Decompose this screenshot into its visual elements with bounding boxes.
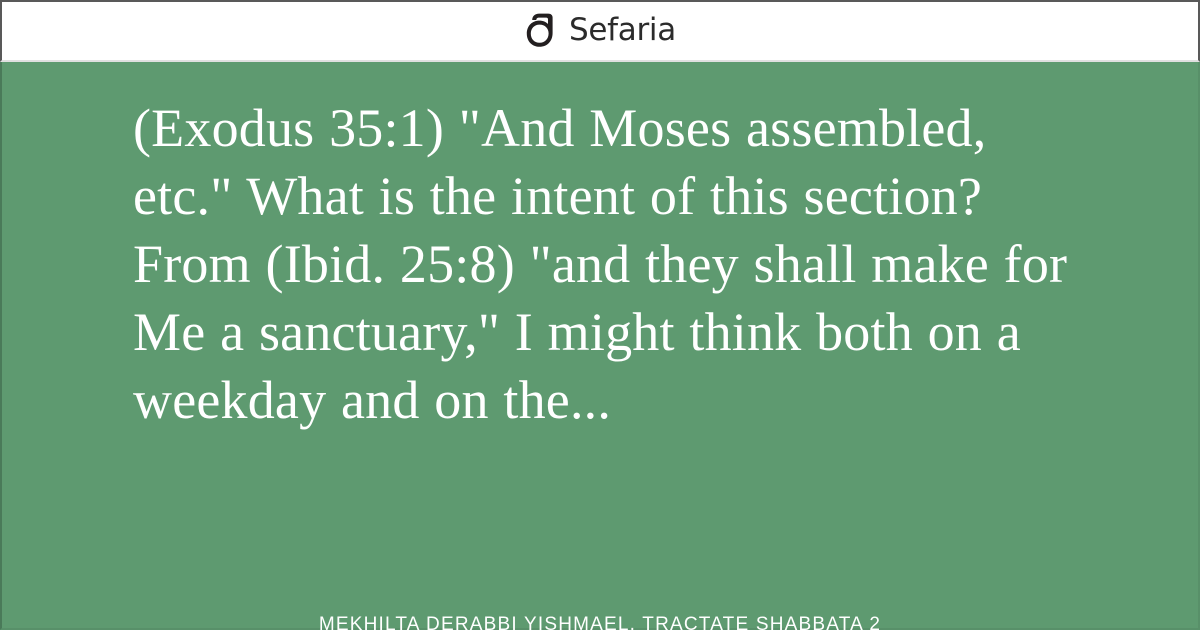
site-header: Sefaria <box>0 0 1200 62</box>
brand-name: Sefaria <box>569 15 676 46</box>
card-body: (Exodus 35:1) "And Moses assembled, etc.… <box>0 62 1200 630</box>
source-reference-caption: Mekhilta DeRabbi Yishmael, Tractate Shab… <box>2 614 1198 630</box>
sefaria-samekh-logo-icon <box>524 11 558 49</box>
sefaria-share-card: Sefaria (Exodus 35:1) "And Moses assembl… <box>0 0 1200 630</box>
sefaria-logo[interactable]: Sefaria <box>524 11 676 49</box>
quote-text: (Exodus 35:1) "And Moses assembled, etc.… <box>133 94 1073 434</box>
